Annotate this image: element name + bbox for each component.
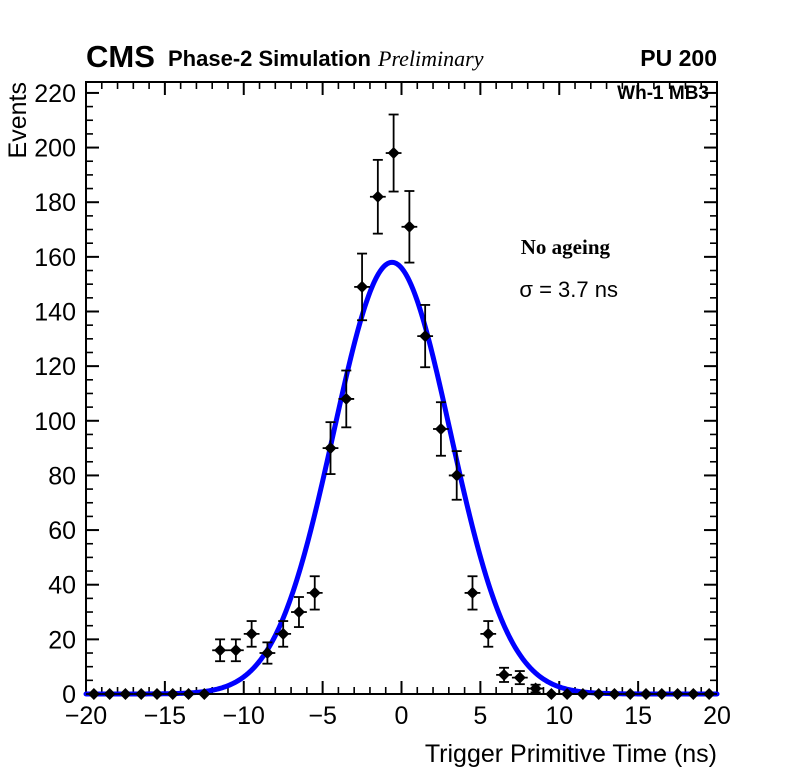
- data-point: [149, 688, 165, 700]
- data-point: [102, 688, 118, 700]
- x-tick-label: 0: [395, 702, 409, 730]
- x-axis-tick-labels: −20−15−10−505101520: [65, 702, 731, 730]
- data-point: [402, 191, 418, 263]
- data-points: [86, 115, 717, 700]
- data-point: [86, 688, 102, 700]
- x-tick-label: 5: [473, 702, 487, 730]
- point-marker: [119, 688, 131, 700]
- data-point: [654, 688, 670, 700]
- y-tick-label: 160: [34, 244, 76, 272]
- data-point: [228, 639, 244, 661]
- y-tick-label: 40: [48, 572, 76, 600]
- fit-curve-path: [86, 262, 717, 694]
- x-tick-label: −15: [144, 702, 186, 730]
- y-axis-tick-labels: 020406080100120140160180200220: [34, 80, 76, 709]
- point-marker: [403, 221, 415, 233]
- point-marker: [167, 688, 179, 700]
- data-point: [543, 688, 559, 700]
- physics-plot-svg: CMS Phase-2 Simulation Preliminary PU 20…: [0, 0, 796, 772]
- point-marker: [640, 688, 652, 700]
- point-marker: [325, 442, 337, 454]
- y-tick-label: 200: [34, 135, 76, 163]
- point-marker: [624, 688, 636, 700]
- ageing-annotation: No ageing: [521, 235, 611, 259]
- data-point: [118, 688, 134, 700]
- data-point: [133, 688, 149, 700]
- point-marker: [356, 281, 368, 293]
- point-marker: [656, 688, 668, 700]
- point-marker: [466, 587, 478, 599]
- point-marker: [88, 688, 100, 700]
- point-marker: [498, 669, 510, 681]
- data-point: [496, 668, 512, 682]
- point-marker: [435, 423, 447, 435]
- data-point: [370, 160, 386, 234]
- y-tick-label: 20: [48, 626, 76, 654]
- data-point: [338, 371, 354, 428]
- point-marker: [151, 688, 163, 700]
- data-point: [354, 254, 370, 321]
- data-point: [591, 688, 607, 700]
- plot-canvas: CMS Phase-2 Simulation Preliminary PU 20…: [0, 0, 796, 772]
- data-point: [512, 671, 528, 684]
- x-tick-label: −5: [308, 702, 337, 730]
- point-marker: [608, 688, 620, 700]
- data-point: [701, 688, 717, 700]
- x-tick-label: 20: [703, 702, 731, 730]
- point-marker: [135, 688, 147, 700]
- sigma-annotation: σ = 3.7 ns: [519, 277, 618, 302]
- point-marker: [388, 147, 400, 159]
- data-point: [212, 639, 228, 661]
- y-tick-label: 0: [62, 681, 76, 709]
- y-tick-label: 180: [34, 189, 76, 217]
- pileup-label: PU 200: [640, 45, 717, 71]
- y-tick-label: 100: [34, 408, 76, 436]
- plot-frame: [86, 82, 717, 694]
- point-marker: [482, 628, 494, 640]
- frame-rect: [86, 82, 717, 694]
- cms-logo-text: CMS: [86, 39, 155, 74]
- point-marker: [514, 672, 526, 684]
- point-marker: [230, 644, 242, 656]
- x-tick-label: 15: [624, 702, 652, 730]
- point-marker: [309, 587, 321, 599]
- point-marker: [293, 606, 305, 618]
- point-marker: [183, 688, 195, 700]
- data-point: [181, 688, 197, 700]
- point-marker: [593, 688, 605, 700]
- point-marker: [703, 688, 715, 700]
- point-marker: [672, 688, 684, 700]
- point-marker: [687, 688, 699, 700]
- gaussian-fit-curve: [86, 262, 717, 694]
- preliminary-label: Preliminary: [377, 46, 484, 71]
- data-point: [685, 688, 701, 700]
- data-point: [622, 688, 638, 700]
- data-point: [307, 576, 323, 609]
- x-tick-label: 10: [545, 702, 573, 730]
- y-tick-label: 120: [34, 353, 76, 381]
- x-tick-label: −10: [223, 702, 265, 730]
- x-axis-title: Trigger Primitive Time (ns): [425, 740, 717, 768]
- chamber-label: Wh-1 MB3: [617, 83, 709, 104]
- point-marker: [372, 191, 384, 203]
- data-point: [386, 115, 402, 192]
- y-tick-label: 140: [34, 299, 76, 327]
- point-marker: [214, 644, 226, 656]
- data-point: [607, 688, 623, 700]
- point-marker: [246, 628, 258, 640]
- data-point: [638, 688, 654, 700]
- y-tick-label: 220: [34, 80, 76, 108]
- data-point: [465, 576, 481, 609]
- x-axis-ticks: [86, 82, 717, 694]
- data-point: [528, 683, 544, 695]
- point-marker: [545, 688, 557, 700]
- data-point: [165, 688, 181, 700]
- y-axis-title: Events: [4, 82, 32, 158]
- data-point: [670, 688, 686, 700]
- data-point: [291, 597, 307, 627]
- data-point: [244, 621, 260, 647]
- y-tick-label: 60: [48, 517, 76, 545]
- simulation-label: Phase-2 Simulation: [168, 46, 371, 71]
- data-point: [480, 621, 496, 647]
- y-axis-ticks: [86, 93, 717, 694]
- point-marker: [104, 688, 116, 700]
- y-tick-label: 80: [48, 462, 76, 490]
